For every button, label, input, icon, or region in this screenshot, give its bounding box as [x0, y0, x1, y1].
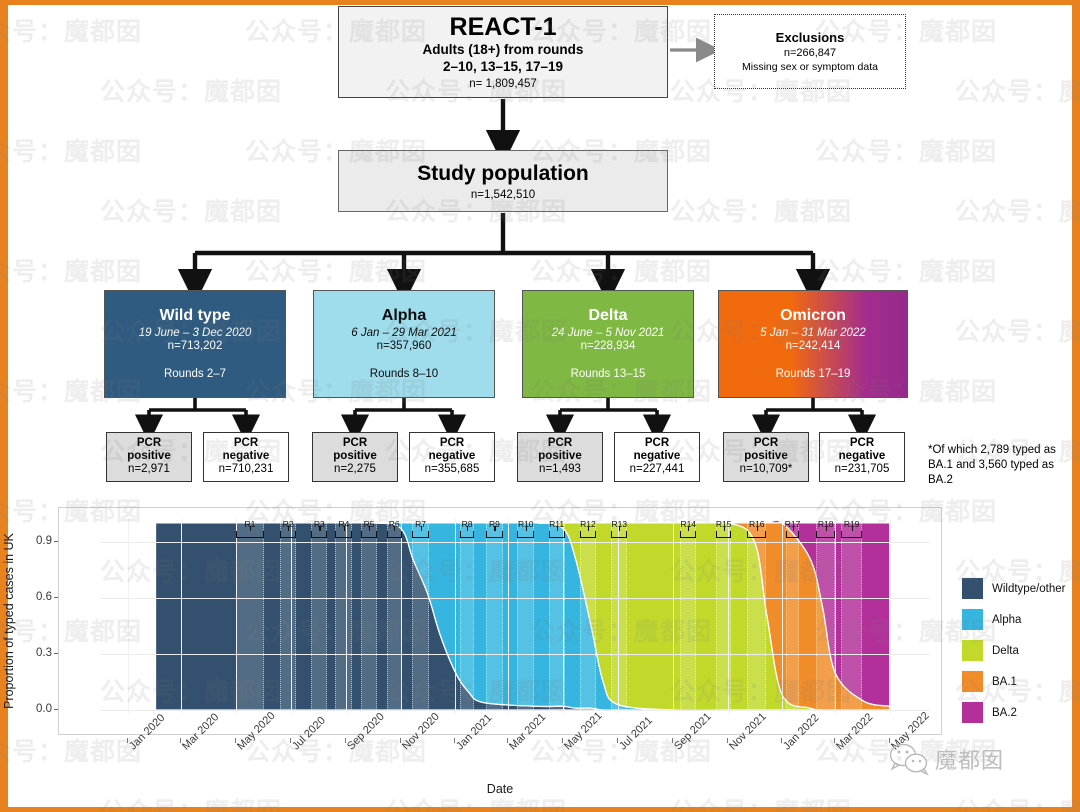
chart-gridline	[100, 710, 930, 711]
pcr-result: negative	[839, 450, 886, 463]
x-axis-tick-mark	[781, 738, 782, 743]
chart-gridline-vertical	[236, 518, 237, 714]
pcr-n: n=227,441	[630, 463, 685, 477]
chart-y-axis: 0.00.30.60.9	[0, 507, 58, 735]
round-bracket-line	[361, 531, 376, 538]
pcr-label: PCR	[137, 437, 161, 450]
pcr-result: positive	[333, 450, 376, 463]
pcr-box-negative-alpha: PCR negative n=355,685	[409, 432, 495, 482]
y-axis-tick-label: 0.3	[36, 647, 52, 659]
y-axis-tick-mark	[54, 541, 58, 542]
pcr-n: n=2,275	[334, 463, 376, 477]
chart-gridline-vertical	[890, 518, 891, 714]
pcr-result: negative	[223, 450, 270, 463]
pcr-label: PCR	[440, 437, 464, 450]
variant-proportion-chart: R1R2R3R4R5R6R7R8R9R10R11R12R13R14R15R16R…	[58, 507, 942, 735]
x-axis-tick-mark	[617, 738, 618, 743]
round-bracket-line	[786, 531, 799, 538]
round-bracket-line	[387, 531, 402, 538]
chart-gridline-vertical	[782, 518, 783, 714]
plot-right-margin-mask	[898, 518, 930, 714]
round-bracket-line	[311, 531, 327, 538]
y-axis-tick-mark	[54, 709, 58, 710]
round-band	[841, 518, 862, 714]
pcr-n: n=1,493	[539, 463, 581, 477]
x-axis-tick-mark	[235, 738, 236, 743]
variant-dates: 19 June – 3 Dec 2020	[139, 327, 252, 339]
exclusions-box: Exclusions n=266,847 Missing sex or symp…	[714, 14, 906, 89]
round-bracket-line	[841, 531, 862, 538]
footnote-ba-typing: *Of which 2,789 typed as BA.1 and 3,560 …	[928, 443, 1068, 489]
round-bracket-line	[236, 531, 264, 538]
round-band	[280, 518, 296, 714]
y-axis-tick-label: 0.6	[36, 591, 52, 603]
pcr-label: PCR	[645, 437, 669, 450]
pcr-result: positive	[127, 450, 170, 463]
round-bracket-line	[517, 531, 534, 538]
round-band	[311, 518, 327, 714]
x-axis-tick-mark	[672, 738, 673, 743]
chart-gridline-vertical	[291, 518, 292, 714]
pcr-box-negative-omicron: PCR negative n=231,705	[819, 432, 905, 482]
variant-rounds: Rounds 8–10	[370, 368, 438, 380]
legend-item-ba-1: BA.1	[962, 671, 1080, 692]
chart-gridline-vertical	[181, 518, 182, 714]
legend-label: Wildtype/other	[992, 583, 1066, 595]
variant-n: n=228,934	[581, 340, 636, 352]
round-band	[816, 518, 835, 714]
round-bracket-line	[816, 531, 835, 538]
x-axis-tick-mark	[727, 738, 728, 743]
pcr-box-positive-omicron: PCR positive n=10,709*	[723, 432, 809, 482]
round-bracket-line	[486, 531, 503, 538]
variant-name: Wild type	[160, 307, 231, 325]
variant-n: n=242,414	[786, 340, 841, 352]
pcr-label: PCR	[548, 437, 572, 450]
round-bracket-line	[335, 531, 352, 538]
variant-n: n=357,960	[377, 340, 432, 352]
variant-box-omicron: Omicron 5 Jan – 31 Mar 2022 n=242,414 Ro…	[718, 290, 908, 398]
round-band	[387, 518, 402, 714]
round-bracket-line	[549, 531, 565, 538]
pcr-box-positive-wild-type: PCR positive n=2,971	[106, 432, 192, 482]
variant-rounds: Rounds 2–7	[164, 368, 226, 380]
variant-box-wild-type: Wild type 19 June – 3 Dec 2020 n=713,202…	[104, 290, 286, 398]
chart-gridline-vertical	[673, 518, 674, 714]
y-axis-tick-label: 0.9	[36, 535, 52, 547]
wechat-bubble-icon	[888, 742, 932, 776]
wechat-logo: 魔都囡	[888, 742, 1004, 776]
pcr-result: negative	[429, 450, 476, 463]
x-axis-tick-mark	[507, 738, 508, 743]
exclusions-n: n=266,847	[784, 47, 836, 59]
pcr-box-positive-alpha: PCR positive n=2,275	[312, 432, 398, 482]
chart-gridline-vertical	[728, 518, 729, 714]
pcr-box-positive-delta: PCR positive n=1,493	[517, 432, 603, 482]
legend-swatch	[962, 640, 983, 661]
pcr-box-negative-delta: PCR negative n=227,441	[614, 432, 700, 482]
variant-name: Alpha	[382, 307, 426, 325]
round-band	[236, 518, 264, 714]
y-axis-tick-mark	[54, 653, 58, 654]
variant-dates: 6 Jan – 29 Mar 2021	[351, 327, 457, 339]
round-bracket-line	[280, 531, 296, 538]
round-band	[680, 518, 696, 714]
legend-label: BA.1	[992, 676, 1017, 688]
round-band	[786, 518, 799, 714]
round-band	[716, 518, 731, 714]
y-axis-tick-mark	[54, 597, 58, 598]
round-band	[611, 518, 627, 714]
pcr-result: negative	[634, 450, 681, 463]
round-bracket-line	[611, 531, 627, 538]
round-bracket-line	[460, 531, 474, 538]
x-axis-tick-mark	[562, 738, 563, 743]
chart-gridline	[100, 598, 930, 599]
legend-item-alpha: Alpha	[962, 609, 1080, 630]
round-bracket-line	[580, 531, 596, 538]
round-band	[412, 518, 430, 714]
exclusions-reason: Missing sex or symptom data	[742, 61, 878, 74]
x-axis-tick-mark	[290, 738, 291, 743]
round-band	[460, 518, 474, 714]
variant-box-alpha: Alpha 6 Jan – 29 Mar 2021 n=357,960 Roun…	[313, 290, 495, 398]
round-bracket-line	[716, 531, 731, 538]
legend-item-ba-2: BA.2	[962, 702, 1080, 723]
variant-box-delta: Delta 24 June – 5 Nov 2021 n=228,934 Rou…	[522, 290, 694, 398]
legend-label: Delta	[992, 645, 1019, 657]
x-axis-tick-mark	[834, 738, 835, 743]
pcr-box-negative-wild-type: PCR negative n=710,231	[203, 432, 289, 482]
chart-gridline-vertical	[835, 518, 836, 714]
exclusions-title: Exclusions	[776, 30, 845, 45]
chart-gridline-vertical	[128, 518, 129, 714]
round-bracket-line	[412, 531, 430, 538]
chart-gridline-vertical	[401, 518, 402, 714]
round-band	[486, 518, 503, 714]
legend-swatch	[962, 609, 983, 630]
variant-name: Omicron	[780, 307, 846, 325]
pcr-label: PCR	[850, 437, 874, 450]
pcr-result: positive	[744, 450, 787, 463]
chart-gridline	[100, 654, 930, 655]
legend-label: Alpha	[992, 614, 1021, 626]
legend-label: BA.2	[992, 707, 1017, 719]
chart-gridline-vertical	[346, 518, 347, 714]
chart-gridline-vertical	[508, 518, 509, 714]
legend-item-wildtype-other: Wildtype/other	[962, 578, 1080, 599]
chart-gridline-vertical	[563, 518, 564, 714]
legend-swatch	[962, 578, 983, 599]
round-band	[335, 518, 352, 714]
react1-box: REACT-1 Adults (18+) from rounds 2–10, 1…	[338, 6, 668, 98]
variant-n: n=713,202	[168, 340, 223, 352]
pcr-n: n=2,971	[128, 463, 170, 477]
variant-rounds: Rounds 17–19	[776, 368, 851, 380]
round-band	[747, 518, 766, 714]
stacked-area-series	[100, 518, 930, 714]
variant-dates: 5 Jan – 31 Mar 2022	[760, 327, 866, 339]
react1-line1: Adults (18+) from rounds	[423, 42, 584, 59]
x-axis-tick-mark	[345, 738, 346, 743]
y-axis-tick-label: 0.0	[36, 703, 52, 715]
round-bracket-line	[680, 531, 696, 538]
variant-rounds: Rounds 13–15	[571, 368, 646, 380]
legend-swatch	[962, 702, 983, 723]
x-axis-tick-mark	[454, 738, 455, 743]
round-bracket-line	[747, 531, 766, 538]
study-population-n: n=1,542,510	[471, 189, 535, 201]
round-band	[361, 518, 376, 714]
round-band	[580, 518, 596, 714]
x-axis-tick-mark	[180, 738, 181, 743]
study-population-box: Study population n=1,542,510	[338, 150, 668, 212]
pcr-label: PCR	[234, 437, 258, 450]
pcr-n: n=231,705	[835, 463, 890, 477]
pcr-n: n=710,231	[219, 463, 274, 477]
pcr-result: positive	[538, 450, 581, 463]
chart-gridline-vertical	[618, 518, 619, 714]
x-axis-tick-mark	[127, 738, 128, 743]
chart-plot-area	[100, 518, 930, 714]
chart-gridline-vertical	[455, 518, 456, 714]
react1-n: n= 1,809,457	[469, 78, 536, 90]
round-band	[517, 518, 534, 714]
variant-dates: 24 June – 5 Nov 2021	[552, 327, 665, 339]
wechat-logo-text: 魔都囡	[935, 743, 1004, 775]
study-population-title: Study population	[417, 162, 588, 186]
react1-title: REACT-1	[450, 14, 557, 40]
chart-x-axis-title: Date	[0, 782, 1000, 796]
pcr-n: n=10,709*	[740, 463, 793, 477]
react1-line2: 2–10, 13–15, 17–19	[443, 59, 563, 76]
pcr-label: PCR	[754, 437, 778, 450]
chart-gridline	[100, 542, 930, 543]
x-axis-tick-mark	[400, 738, 401, 743]
pcr-label: PCR	[343, 437, 367, 450]
legend-item-delta: Delta	[962, 640, 1080, 661]
pcr-n: n=355,685	[425, 463, 480, 477]
chart-legend: Wildtype/otherAlphaDeltaBA.1BA.2	[962, 578, 1080, 733]
legend-swatch	[962, 671, 983, 692]
variant-name: Delta	[588, 307, 627, 325]
